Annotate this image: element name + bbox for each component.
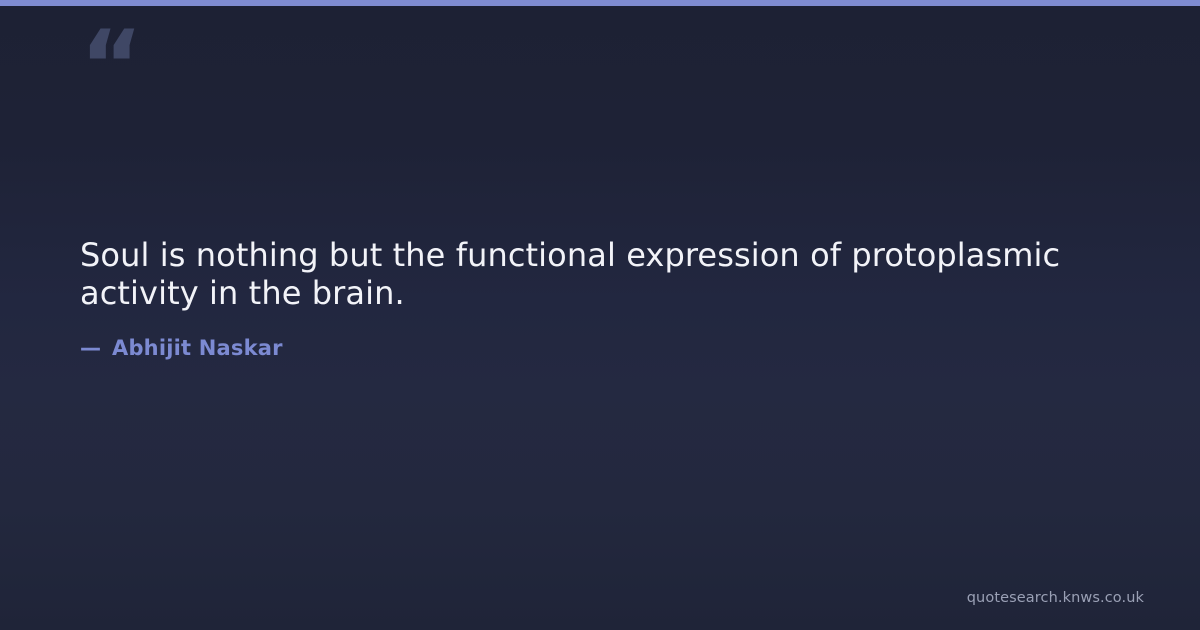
attribution: — Abhijit Naskar [80, 338, 1080, 359]
quote-card: “ Soul is nothing but the functional exp… [0, 0, 1200, 630]
quote-text: Soul is nothing but the functional expre… [80, 236, 1065, 312]
top-accent-bar [0, 0, 1200, 6]
attribution-dash: — [80, 338, 101, 359]
site-watermark: quotesearch.knws.co.uk [967, 590, 1144, 606]
quote-content: Soul is nothing but the functional expre… [80, 236, 1080, 359]
quotation-mark-icon: “ [80, 18, 150, 98]
attribution-author-name: Abhijit Naskar [112, 338, 283, 359]
